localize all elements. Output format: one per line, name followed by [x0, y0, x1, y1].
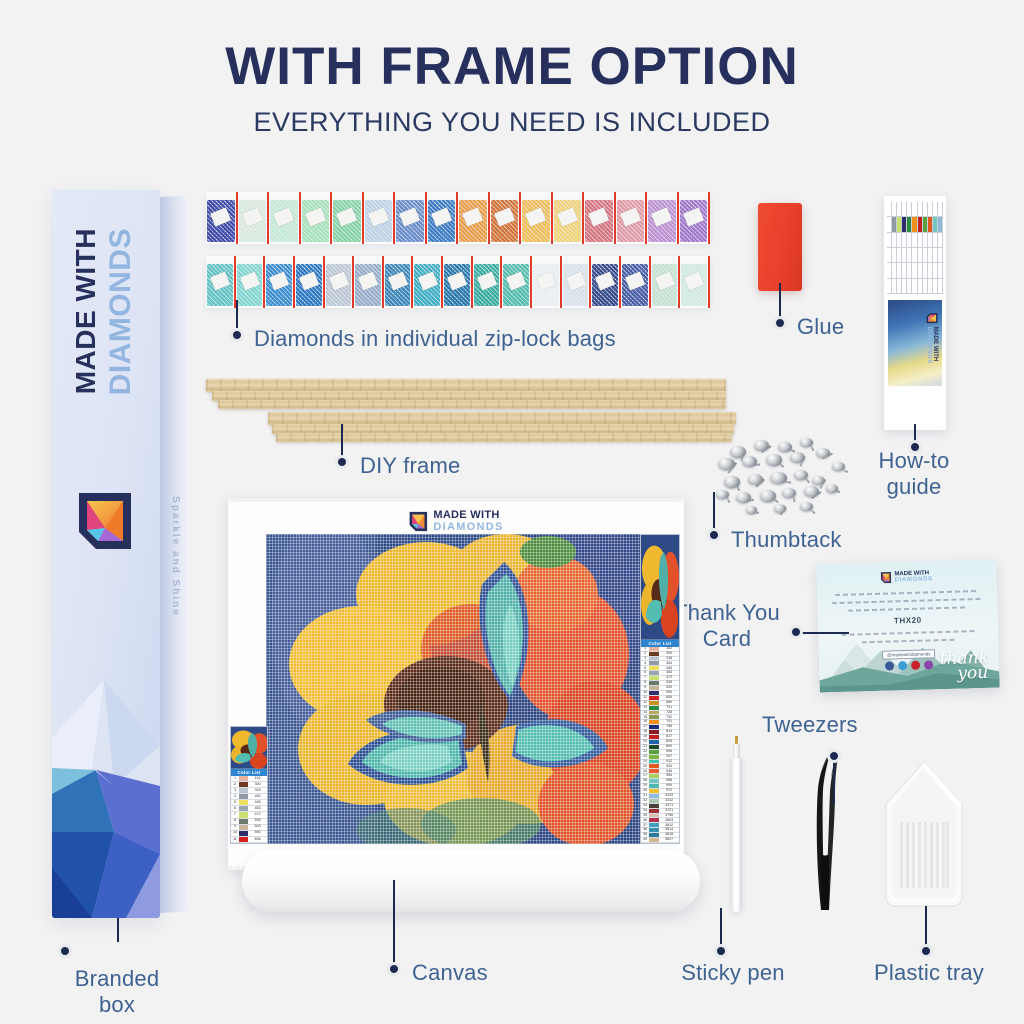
guide-chart-cell — [892, 202, 896, 217]
legend-dmc-code: 701 — [659, 706, 679, 710]
guide-chart-cell — [907, 248, 911, 263]
legend-color-swatch — [649, 735, 659, 739]
tweezers — [800, 744, 848, 912]
card-logo: MADE WITH DIAMONDS — [880, 570, 933, 584]
guide-chart-cell — [887, 279, 891, 294]
ziplock-bag — [562, 256, 592, 308]
thumbtack-head — [736, 492, 751, 503]
thumbtack-head — [826, 484, 838, 493]
ziplock-bag — [269, 192, 301, 244]
legend-row-number: 34 — [641, 809, 649, 813]
legend-color-swatch — [649, 779, 659, 783]
leader-thumbtack — [713, 492, 715, 530]
legend-color-swatch — [649, 755, 659, 759]
guide-chart-cell — [907, 279, 911, 294]
thumbtack-head — [790, 452, 805, 463]
guide-chart-cell — [923, 202, 927, 217]
card-thank-you-script: thank you — [940, 651, 990, 681]
guide-chart-cell — [938, 217, 942, 232]
legend-dmc-code: 453 — [248, 806, 267, 811]
legend-thumbnail — [231, 727, 267, 769]
guide-chart-cell — [897, 217, 901, 232]
legend-row-number: 13 — [641, 706, 649, 710]
legend-row-number: 25 — [641, 764, 649, 768]
legend-dmc-code: 912 — [659, 760, 679, 764]
diamond-logo-icon — [880, 572, 891, 584]
ziplock-bag — [325, 256, 355, 308]
guide-chart-cell — [928, 217, 932, 232]
ziplock-bag — [384, 256, 414, 308]
legend-color-swatch — [649, 750, 659, 754]
guide-logo-line2: DIAMONDS — [925, 327, 932, 364]
ziplock-bag — [458, 192, 490, 244]
frame-plank — [276, 433, 732, 442]
diamond-logo-icon — [76, 490, 134, 552]
ziplock-bag — [427, 192, 459, 244]
thumbtack-head — [754, 440, 769, 451]
guide-chart-cell — [938, 263, 942, 278]
guide-chart-cell — [892, 217, 896, 232]
marker-plastic-tray — [919, 944, 933, 958]
guide-chart-cell — [933, 248, 937, 263]
legend-color-swatch — [649, 745, 659, 749]
guide-chart-cell — [918, 263, 922, 278]
legend-row: 403837 — [641, 838, 679, 843]
legend-row-number: 8 — [231, 819, 239, 824]
legend-color-swatch — [649, 794, 659, 798]
twitter-icon — [898, 661, 907, 670]
thumbtack-head — [766, 454, 782, 466]
thumbtack-head — [724, 476, 740, 488]
legend-dmc-code: 3721 — [659, 809, 679, 813]
guide-chart-cell — [907, 217, 911, 232]
legend-color-swatch — [649, 671, 659, 675]
guide-chart-cell — [938, 279, 942, 294]
legend-row-number: 36 — [641, 818, 649, 822]
guide-chart-cell — [907, 263, 911, 278]
guide-chart-cell — [902, 233, 906, 248]
ziplock-bag — [616, 192, 648, 244]
legend-color-swatch — [649, 760, 659, 764]
guide-chart-cell — [912, 233, 916, 248]
legend-row-number: 24 — [641, 760, 649, 764]
guide-chart-cell — [933, 279, 937, 294]
legend-dmc-code: 445 — [248, 800, 267, 805]
card-social-icons — [885, 660, 933, 670]
box-front-panel: MADE WITH DIAMONDS — [52, 190, 160, 918]
legend-dmc-code: 300 — [659, 652, 679, 656]
guide-chart-cell — [892, 233, 896, 248]
legend-color-swatch — [649, 652, 659, 656]
legend-color-swatch — [649, 809, 659, 813]
guide-chart-cell — [892, 263, 896, 278]
leader-diy-frame — [341, 424, 343, 456]
legend-color-swatch — [649, 681, 659, 685]
ziplock-bag — [473, 256, 503, 308]
legend-color-swatch — [649, 691, 659, 695]
ziplock-bag — [490, 192, 522, 244]
legend-dmc-code: 3837 — [659, 838, 679, 842]
legend-color-swatch — [649, 740, 659, 744]
ziplock-bag-row-1 — [206, 192, 710, 244]
ziplock-bag — [443, 256, 473, 308]
guide-chart-cell — [918, 248, 922, 263]
thumbtack-head — [804, 486, 819, 497]
thumbtack-head — [730, 446, 746, 458]
guide-logo-line1: MADE WITH — [932, 327, 938, 364]
guide-logo: MADE WITH DIAMONDS — [925, 313, 938, 364]
card-logo-line2: DIAMONDS — [894, 576, 932, 584]
guide-chart-cell — [897, 279, 901, 294]
pen-barrel — [731, 758, 742, 912]
legend-color-swatch — [649, 789, 659, 793]
guide-chart-cell — [933, 202, 937, 217]
legend-color-swatch — [649, 774, 659, 778]
legend-color-swatch — [239, 776, 248, 781]
legend-rows-left: 1152230033184454544564537472853595431055… — [231, 776, 267, 843]
ziplock-bag — [206, 192, 238, 244]
ziplock-bag — [553, 192, 585, 244]
legend-color-swatch — [649, 696, 659, 700]
guide-chart-cell — [912, 248, 916, 263]
legend-color-swatch — [649, 657, 659, 661]
thumbtack-head — [760, 490, 776, 502]
legend-color-swatch — [649, 661, 659, 665]
box-geometric-pattern — [52, 618, 160, 918]
legend-color-swatch — [649, 784, 659, 788]
thumbtack-head — [778, 442, 792, 452]
legend-color-swatch — [649, 833, 659, 837]
marker-thumbtack — [707, 528, 721, 542]
legend-dmc-code: 300 — [248, 782, 267, 787]
diamond-logo-icon — [926, 313, 938, 324]
guide-chart-cell — [938, 233, 942, 248]
legend-color-swatch — [649, 828, 659, 832]
legend-color-swatch — [649, 764, 659, 768]
legend-color-swatch — [649, 701, 659, 705]
guide-chart-cell — [907, 233, 911, 248]
ziplock-bag — [395, 192, 427, 244]
guide-chart-cell — [887, 233, 891, 248]
legend-color-swatch — [649, 838, 659, 842]
legend-title-right: Color List — [641, 640, 679, 647]
page-title: WITH FRAME OPTION — [0, 36, 1024, 97]
infographic-root: WITH FRAME OPTION EVERYTHING YOU NEED IS… — [0, 0, 1024, 1024]
legend-row-number: 2 — [231, 782, 239, 787]
facebook-icon — [885, 661, 894, 670]
leader-thank-you — [795, 632, 849, 634]
legend-row-number: 4 — [231, 794, 239, 799]
legend-color-swatch — [239, 794, 248, 799]
thank-you-card: MADE WITH DIAMONDS THX20 @madewithdiamon… — [816, 560, 1000, 693]
guide-chart-cell — [923, 248, 927, 263]
ziplock-bag — [354, 256, 384, 308]
legend-rows-right: 1152230033184454544564537472853595431055… — [641, 647, 679, 843]
marker-canvas — [387, 962, 401, 976]
label-thank-you: Thank You Card — [672, 600, 782, 652]
ziplock-bag — [621, 256, 651, 308]
ziplock-bag — [206, 256, 236, 308]
legend-row-number: 3 — [231, 788, 239, 793]
card-discount-code: THX20 — [894, 616, 922, 626]
guide-chart-cell — [928, 248, 932, 263]
label-how-to-guide: How-to guide — [855, 448, 973, 500]
marker-tweezers — [827, 749, 841, 763]
guide-chart-cell — [938, 248, 942, 263]
box-brand-line2: DIAMONDS — [104, 228, 138, 395]
how-to-guide-booklet: MADE WITH DIAMONDS — [884, 196, 946, 430]
legend-color-swatch — [239, 825, 248, 830]
label-branded-box: Branded box — [57, 966, 177, 1018]
legend-dmc-code: 728 — [659, 711, 679, 715]
ziplock-bag — [521, 192, 553, 244]
legend-dmc-code: 152 — [248, 776, 267, 781]
guide-chart-cell — [928, 279, 932, 294]
guide-chart-cell — [923, 279, 927, 294]
thumbtack-head — [742, 456, 757, 467]
marker-branded-box — [58, 944, 72, 958]
guide-chart-cell — [912, 279, 916, 294]
marker-sticky-pen — [714, 944, 728, 958]
canvas-print: MADE WITH DIAMONDS — [228, 498, 684, 918]
label-sticky-pen: Sticky pen — [674, 960, 792, 986]
ziplock-bag — [364, 192, 396, 244]
ziplock-bag — [301, 192, 333, 244]
leader-canvas — [393, 880, 395, 962]
thumbtack-head — [748, 474, 763, 485]
card-social-handle: @madewithdiamonds — [882, 649, 936, 659]
label-glue: Glue — [797, 314, 844, 340]
canvas-logo: MADE WITH DIAMONDS — [408, 510, 503, 533]
glue-bottle — [758, 203, 802, 291]
guide-chart-cell — [902, 263, 906, 278]
guide-chart-cell — [907, 202, 911, 217]
legend-row-number: 4 — [641, 661, 649, 665]
legend-dmc-code: 472 — [248, 812, 267, 817]
legend-color-swatch — [649, 799, 659, 803]
legend-dmc-code: 920 — [659, 764, 679, 768]
guide-chart-cell — [928, 263, 932, 278]
ziplock-bag — [680, 256, 710, 308]
legend-color-swatch — [239, 800, 248, 805]
legend-color-swatch — [239, 819, 248, 824]
guide-chart-cell — [902, 248, 906, 263]
legend-row-number: 10 — [231, 831, 239, 836]
canvas-logo-line2: DIAMONDS — [433, 521, 503, 533]
guide-chart-cell — [918, 233, 922, 248]
guide-chart-cell — [897, 263, 901, 278]
diamond-logo-icon — [408, 511, 428, 532]
color-list-legend-right: Color List 11522300331844545445645374728… — [640, 534, 680, 844]
thumbtack-pile — [712, 436, 860, 524]
label-diy-frame: DIY frame — [360, 453, 460, 479]
branded-box: Sparkle and Shine MADE WITH DIAMONDS — [52, 190, 192, 918]
legend-color-swatch — [649, 686, 659, 690]
guide-chart-cell — [897, 248, 901, 263]
leader-zip-bags — [236, 300, 238, 328]
legend-color-swatch — [649, 720, 659, 724]
guide-chart-cell — [933, 217, 937, 232]
legend-thumbnail — [641, 535, 679, 640]
guide-chart-cell — [923, 263, 927, 278]
label-canvas: Canvas — [412, 960, 488, 986]
guide-chart-cell — [912, 217, 916, 232]
guide-chart-cell — [892, 279, 896, 294]
guide-chart-cell — [912, 202, 916, 217]
label-plastic-tray: Plastic tray — [865, 960, 993, 986]
legend-color-swatch — [649, 769, 659, 773]
legend-color-swatch — [239, 782, 248, 787]
legend-row-number: 5 — [231, 800, 239, 805]
legend-color-swatch — [649, 715, 659, 719]
legend-row-number: 11 — [231, 837, 239, 842]
legend-dmc-code: 318 — [659, 657, 679, 661]
ziplock-bag — [265, 256, 295, 308]
leader-tweezers — [833, 760, 835, 804]
legend-color-swatch — [649, 804, 659, 808]
label-tweezers: Tweezers — [762, 712, 858, 738]
thumbtack-head — [816, 448, 830, 458]
artwork-diamond-grid — [266, 534, 643, 844]
legend-dmc-code: 318 — [248, 788, 267, 793]
guide-chart-cell — [933, 263, 937, 278]
guide-color-chart — [887, 202, 943, 294]
ziplock-bag — [238, 192, 270, 244]
guide-chart-cell — [918, 202, 922, 217]
ziplock-bag — [502, 256, 532, 308]
page-subtitle: EVERYTHING YOU NEED IS INCLUDED — [0, 107, 1024, 138]
legend-dmc-code: 3803 — [659, 818, 679, 822]
guide-chart-cell — [902, 279, 906, 294]
marker-diy-frame — [335, 455, 349, 469]
guide-chart-cell — [928, 233, 932, 248]
legend-dmc-code: 3756 — [659, 814, 679, 818]
legend-color-swatch — [649, 706, 659, 710]
guide-chart-cell — [918, 217, 922, 232]
legend-row-number: 23 — [641, 755, 649, 759]
guide-chart-cell — [923, 217, 927, 232]
ziplock-bag — [236, 256, 266, 308]
guide-chart-column — [938, 202, 943, 294]
legend-dmc-code: 543 — [248, 825, 267, 830]
guide-chart-cell — [938, 202, 942, 217]
legend-color-swatch — [239, 812, 248, 817]
box-brand-line1: MADE WITH — [70, 228, 102, 394]
thumbtack-head — [794, 470, 808, 480]
legend-row-number: 14 — [641, 711, 649, 715]
guide-chart-cell — [897, 233, 901, 248]
frame-plank — [218, 400, 726, 409]
legend-row-number: 1 — [231, 776, 239, 781]
ziplock-bag — [295, 256, 325, 308]
legend-row: 11606 — [231, 837, 267, 843]
guide-chart-cell — [887, 217, 891, 232]
legend-color-swatch — [649, 823, 659, 827]
legend-title-left: Color List — [231, 769, 267, 776]
color-list-legend-left: Color List 11522300331844545445645374728… — [230, 726, 268, 844]
legend-color-swatch — [239, 837, 248, 842]
legend-dmc-code: 680 — [659, 701, 679, 705]
canvas-artwork — [266, 534, 643, 844]
guide-chart-cell — [912, 263, 916, 278]
legend-row-number: 40 — [641, 838, 649, 842]
guide-chart-cell — [902, 202, 906, 217]
leader-plastic-tray — [925, 906, 927, 946]
marker-thank-you — [789, 625, 803, 639]
legend-color-swatch — [649, 730, 659, 734]
canvas-sheet: MADE WITH DIAMONDS — [228, 498, 684, 870]
legend-color-swatch — [649, 725, 659, 729]
ziplock-bag — [679, 192, 711, 244]
legend-color-swatch — [649, 647, 659, 651]
ziplock-bag — [584, 192, 616, 244]
legend-dmc-code: 535 — [248, 819, 267, 824]
sticky-pen — [731, 736, 742, 912]
guide-chart-cell — [887, 263, 891, 278]
thumbtack-head — [774, 504, 786, 513]
label-zip-bags: Diamonds in individual zip-lock bags — [254, 326, 616, 352]
legend-dmc-code: 907 — [659, 755, 679, 759]
legend-row-number: 3 — [641, 657, 649, 661]
guide-chart-cell — [887, 202, 891, 217]
leader-branded-box — [117, 918, 119, 942]
legend-color-swatch — [239, 788, 248, 793]
legend-row-number: 2 — [641, 652, 649, 656]
legend-color-swatch — [649, 711, 659, 715]
legend-row-number: 6 — [231, 806, 239, 811]
legend-dmc-code: 454 — [659, 661, 679, 665]
canvas-logo-line1: MADE WITH — [433, 510, 503, 521]
ziplock-bag — [591, 256, 621, 308]
ziplock-bag — [332, 192, 364, 244]
plastic-tray — [876, 760, 972, 912]
legend-row-number: 9 — [231, 825, 239, 830]
guide-chart-cell — [918, 279, 922, 294]
marker-zip-bags — [230, 328, 244, 342]
thumbtack-head — [746, 506, 757, 514]
legend-dmc-code: 454 — [248, 794, 267, 799]
legend-color-swatch — [649, 818, 659, 822]
instagram-icon — [924, 660, 933, 669]
leader-sticky-pen — [720, 908, 722, 946]
ziplock-bag — [532, 256, 562, 308]
box-tagline: Sparkle and Shine — [169, 496, 181, 677]
canvas-rolled-edge — [242, 850, 700, 912]
guide-chart-cell — [902, 217, 906, 232]
legend-dmc-code: 606 — [248, 837, 267, 842]
ziplock-bag — [651, 256, 681, 308]
ziplock-bag-row-2 — [206, 256, 710, 308]
legend-color-swatch — [649, 814, 659, 818]
legend-color-swatch — [649, 676, 659, 680]
guide-chart-cell — [887, 248, 891, 263]
label-thumbtack: Thumbtack — [731, 527, 842, 553]
ziplock-bag — [413, 256, 443, 308]
legend-dmc-code: 550 — [248, 831, 267, 836]
guide-chart-cell — [928, 202, 932, 217]
pinterest-icon — [911, 661, 920, 670]
guide-chart-cell — [933, 233, 937, 248]
guide-chart-cell — [923, 233, 927, 248]
legend-color-swatch — [649, 666, 659, 670]
legend-color-swatch — [239, 806, 248, 811]
guide-chart-cell — [892, 248, 896, 263]
legend-row-number: 12 — [641, 701, 649, 705]
legend-row-number: 35 — [641, 814, 649, 818]
leader-glue — [779, 283, 781, 319]
guide-chart-cell — [897, 202, 901, 217]
box-side-panel: Sparkle and Shine — [160, 196, 186, 913]
